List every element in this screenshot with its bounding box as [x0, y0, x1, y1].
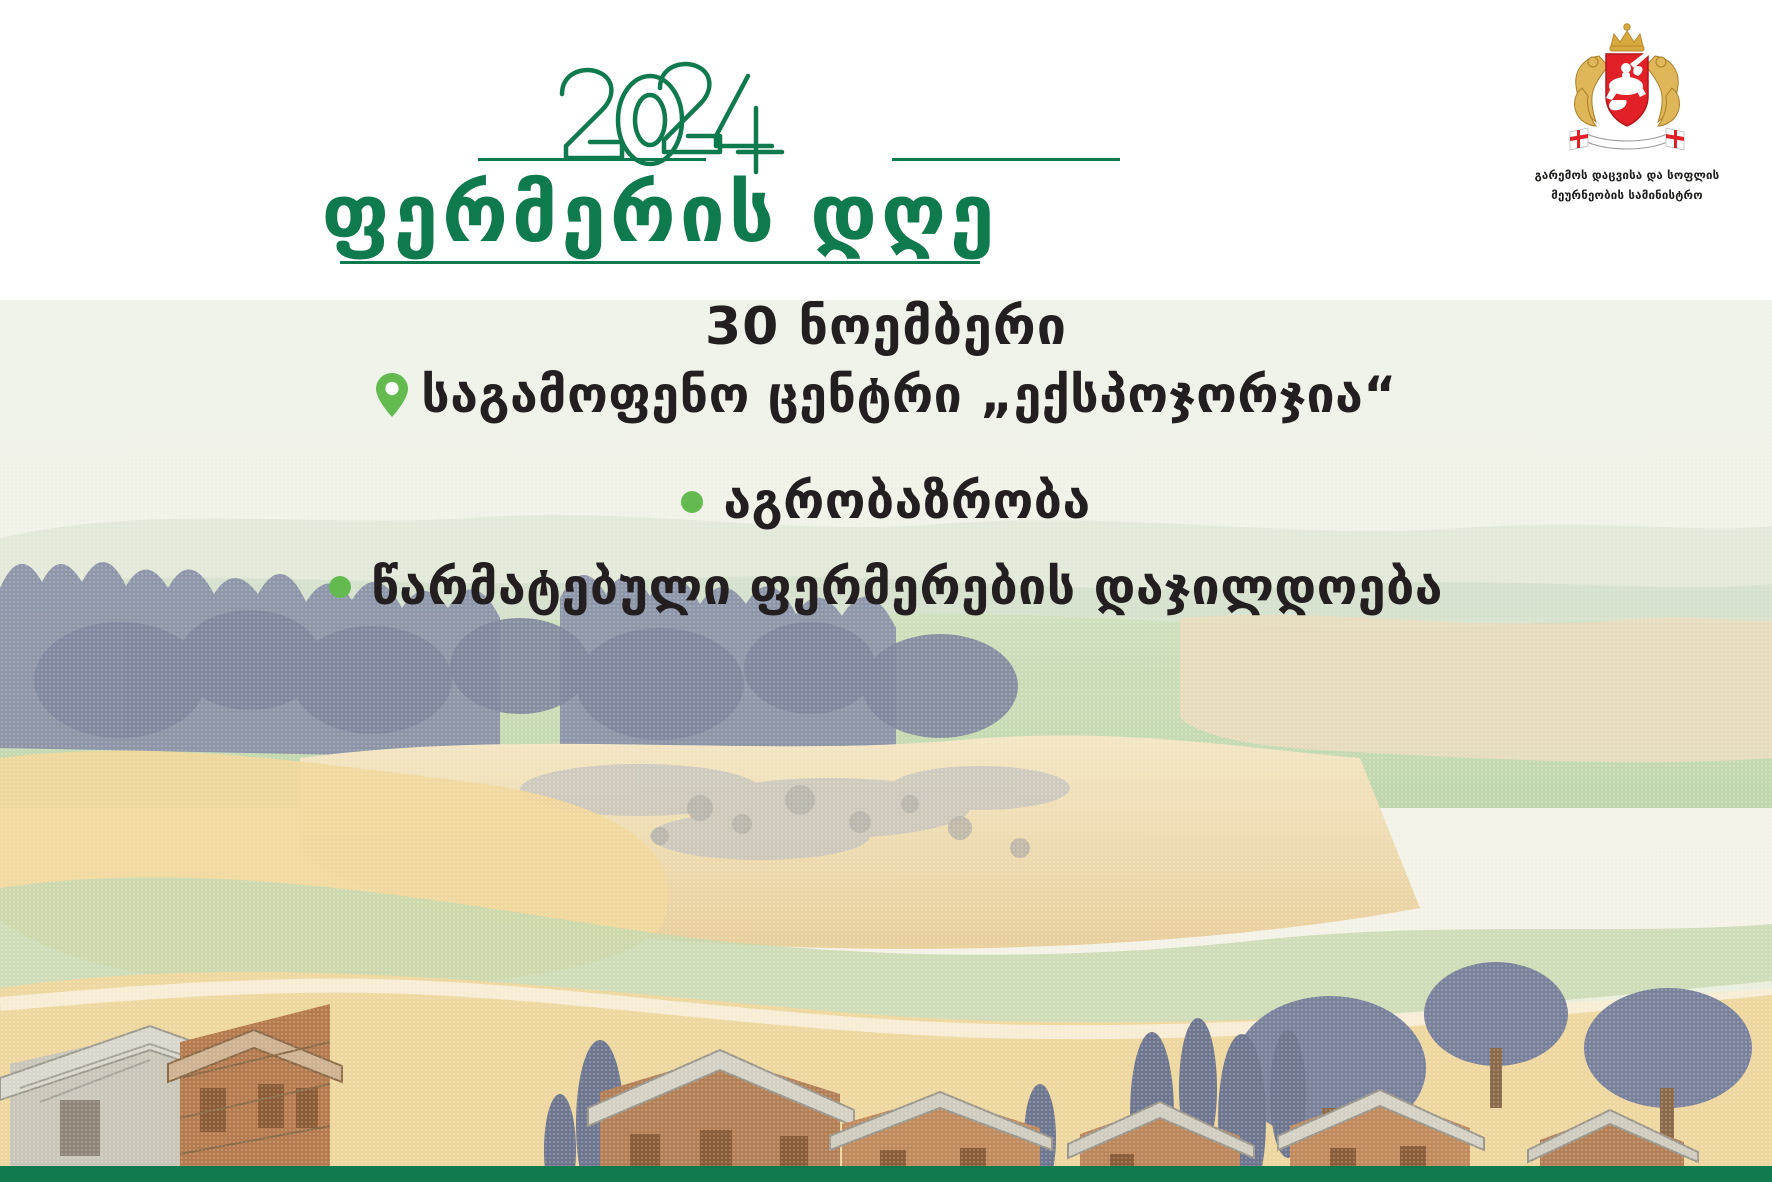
event-program-list: აგრობაზრობა წარმატებული ფერმერების დაჯილ…	[0, 473, 1772, 616]
title-underline	[340, 261, 980, 264]
event-details: 30 ნოემბერი საგამოფენო ცენტრი „ექსპოჯორჯ…	[0, 300, 1772, 616]
event-venue-label: საგამოფენო ცენტრი „ექსპოჯორჯია“	[421, 369, 1396, 422]
ministry-logo: გარემოს დაცვისა და სოფლის მეურნეობის სამ…	[1512, 14, 1742, 203]
ministry-name-line-2: მეურნეობის სამინისტრო	[1512, 188, 1742, 204]
ministry-name-line-1: გარემოს დაცვისა და სოფლის	[1512, 168, 1742, 184]
map-pin-icon	[375, 372, 409, 418]
bullet-dot-icon	[329, 576, 351, 598]
title-block: ფერმერის დღე	[0, 54, 1320, 264]
list-item: აგრობაზრობა	[0, 473, 1772, 531]
list-item: წარმატებული ფერმერების დაჯილდოება	[0, 559, 1772, 617]
header: ფერმერის დღე	[0, 0, 1772, 300]
title-rule-left	[478, 158, 706, 161]
coat-of-arms-of-georgia-icon	[1552, 14, 1702, 164]
bottom-accent-bar	[0, 1166, 1772, 1182]
event-date: 30 ნოემბერი	[0, 300, 1772, 355]
poster-root: ფერმერის დღე	[0, 0, 1772, 1182]
list-item-label: აგრობაზრობა	[723, 473, 1090, 531]
event-venue-row: საგამოფენო ცენტრი „ექსპოჯორჯია“	[0, 369, 1772, 422]
list-item-label: წარმატებული ფერმერების დაჯილდოება	[371, 559, 1443, 617]
title-rule-right	[892, 158, 1120, 161]
page-title: ფერმერის დღე	[0, 177, 1320, 251]
bullet-dot-icon	[681, 491, 703, 513]
